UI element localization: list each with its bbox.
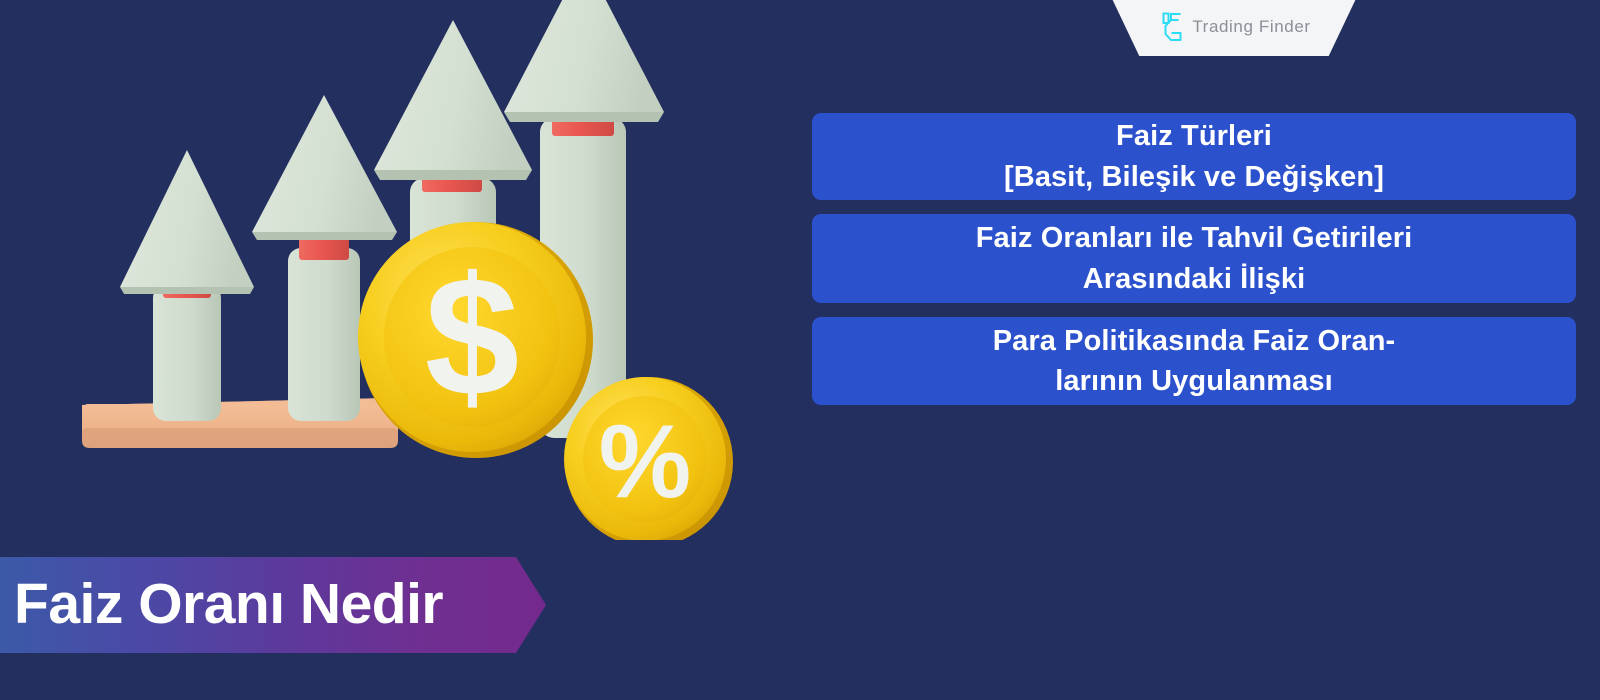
page-title: Faiz Oranı Nedir [0,576,443,633]
svg-text:$: $ [425,242,520,432]
svg-text:%: % [599,404,691,520]
feature-card-line-1: Faiz Oranları ile Tahvil Getirileri [976,218,1413,258]
feature-card-line-2: Arasındaki İlişki [976,259,1413,299]
illustration-bar-1 [120,150,254,421]
illustration-coin-percent: % [564,377,733,540]
feature-card-line-1: Faiz Türleri [1004,116,1384,156]
feature-card-line-2: larının Uygulanması [993,361,1396,401]
feature-card-para-politikasi[interactable]: Para Politikasında Faiz Oran- larının Uy… [812,317,1576,405]
poster-canvas: $ % Trading Finder Faiz Türleri [Basit, … [0,0,1600,700]
illustration-coin-dollar: $ [358,222,593,458]
growth-bars-with-coins-illustration: $ % [60,0,760,540]
brand-tab[interactable]: Trading Finder [1086,0,1382,56]
brand-name: Trading Finder [1192,17,1310,37]
feature-card-list: Faiz Türleri [Basit, Bileşik ve Değişken… [812,113,1576,405]
page-title-banner: Faiz Oranı Nedir [0,557,546,653]
feature-card-tahvil-getirileri[interactable]: Faiz Oranları ile Tahvil Getirileri Aras… [812,214,1576,303]
feature-card-faiz-turleri[interactable]: Faiz Türleri [Basit, Bileşik ve Değişken… [812,113,1576,200]
trading-finder-logo-icon [1157,12,1183,42]
feature-card-line-2: [Basit, Bileşik ve Değişken] [1004,157,1384,197]
feature-card-line-1: Para Politikasında Faiz Oran- [993,321,1396,361]
